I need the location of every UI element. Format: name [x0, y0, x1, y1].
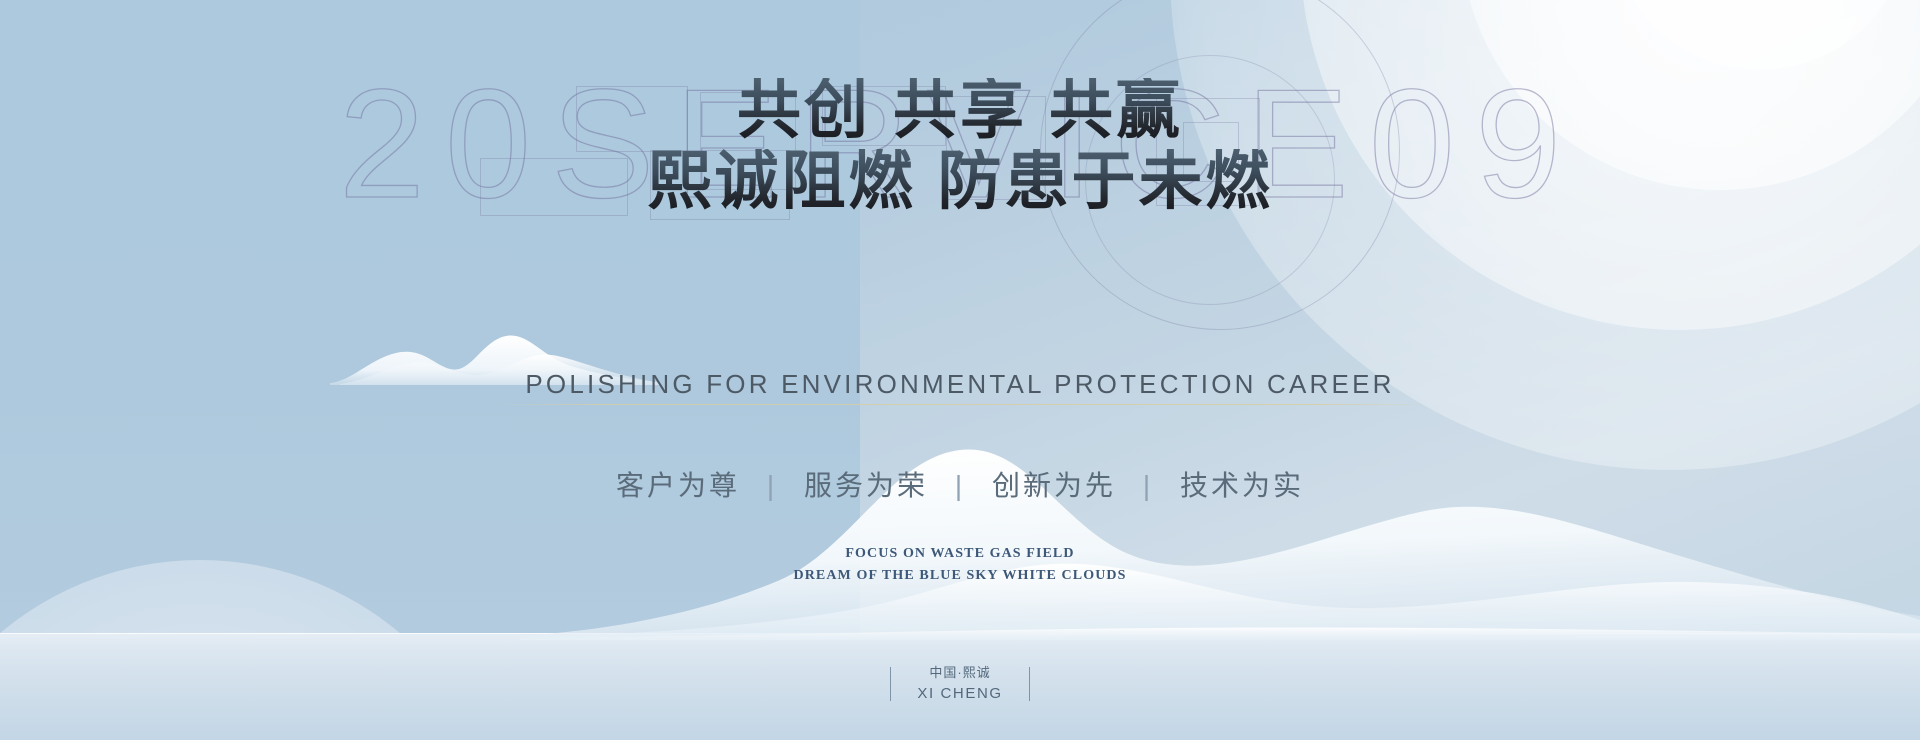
value-item-1: 客户为尊: [616, 464, 740, 504]
slogan-line-2: DREAM OF THE BLUE SKY WHITE CLOUDS: [0, 565, 1920, 587]
value-item-4: 技术为实: [1180, 464, 1304, 504]
brand-logo: 中国·熙诚 XI CHENG: [0, 663, 1920, 704]
headline-line-2: 熙诚阻燃防患于未燃: [0, 149, 1920, 214]
headline-word-2: 共享: [893, 75, 1027, 146]
headline-word-5: 防患于未燃: [938, 146, 1273, 217]
value-separator-2: |: [928, 470, 992, 502]
headline: 共创共享共赢 熙诚阻燃防患于未燃: [0, 78, 1920, 215]
value-item-3: 创新为先: [992, 464, 1116, 504]
logo-text-cn: 中国·熙诚: [917, 663, 1002, 683]
values-row: 客户为尊|服务为荣|创新为先|技术为实: [0, 464, 1920, 504]
value-separator-3: |: [1116, 470, 1180, 502]
slogan-line-1: FOCUS ON WASTE GAS FIELD: [0, 543, 1920, 565]
logo-rule-right: [1029, 667, 1030, 701]
ring-top-right-4: [1610, 0, 1910, 70]
logo-rule-left: [890, 667, 891, 701]
subtitle-underline: [496, 404, 1432, 405]
hero-banner: 20SERVICE09: [0, 0, 1920, 740]
headline-line-1: 共创共享共赢: [0, 78, 1920, 143]
slogan-block: FOCUS ON WASTE GAS FIELD DREAM OF THE BL…: [0, 543, 1920, 586]
logo-text: 中国·熙诚 XI CHENG: [917, 663, 1002, 704]
headline-word-3: 共赢: [1049, 75, 1183, 146]
logo-text-en: XI CHENG: [917, 683, 1002, 705]
horizon-line: [0, 633, 1920, 634]
value-item-2: 服务为荣: [804, 464, 928, 504]
headline-word-4: 熙诚阻燃: [648, 146, 916, 217]
headline-word-1: 共创: [737, 75, 871, 146]
subtitle-english: POLISHING FOR ENVIRONMENTAL PROTECTION C…: [0, 369, 1920, 400]
value-separator-1: |: [740, 470, 804, 502]
